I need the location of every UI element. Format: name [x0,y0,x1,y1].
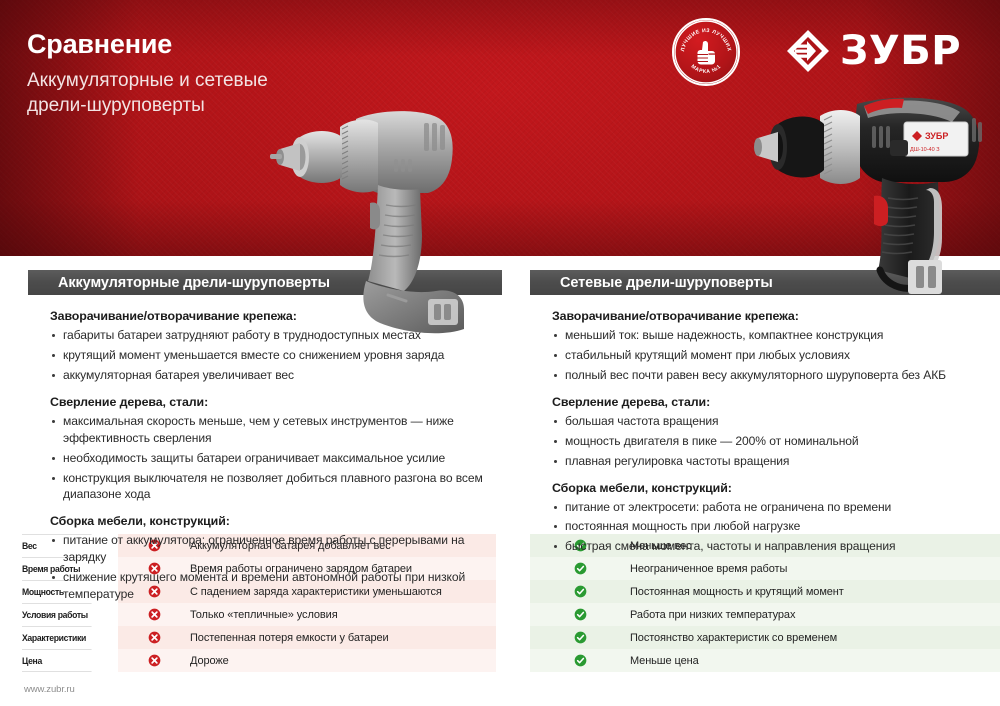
table-row: Работа при низких температурах [530,603,1000,626]
cross-circle-icon [148,631,161,644]
list-item: питание от аккумулятора: ограниченное вр… [52,532,502,566]
check-circle-icon [530,562,630,575]
check-circle-icon [574,585,587,598]
section-list: габариты батареи затрудняют работу в тру… [52,327,502,384]
column-corded-body: Заворачивание/отворачивание крепежа:мень… [530,295,1000,555]
list-item: меньший ток: выше надежность, компактнее… [554,327,1000,344]
check-circle-icon [574,654,587,667]
brand-logo: ЗУБР [785,28,961,74]
check-circle-icon [574,608,587,621]
table-row: Неограниченное время работы [530,557,1000,580]
list-item: быстрая смена момента, частоты и направл… [554,538,1000,555]
check-circle-icon [530,654,630,667]
table-row: Меньше цена [530,649,1000,672]
table-row: Постоянная мощность и крутящий момент [530,580,1000,603]
best-of-best-stamp: ЛУЧШИЕ ИЗ ЛУЧШИХ МАРКА №1 [672,18,740,86]
list-item: мощность двигателя в пике — 200% от номи… [554,433,1000,450]
check-circle-icon [574,631,587,644]
table-cell-text: Только «тепличные» условия [190,609,338,621]
list-item: большая частота вращения [554,413,1000,430]
table-row: Постоянство характеристик со временем [530,626,1000,649]
list-item: снижение крутящего момента и времени авт… [52,569,502,603]
brand-name: ЗУБР [840,31,961,71]
section-title: Сверление дерева, стали: [552,395,1000,409]
list-item: максимальная скорость меньше, чем у сете… [52,413,502,447]
zubr-arrow-icon [785,28,831,74]
corded-drill-image: ЗУБР ДШ-10-40 З [752,92,1000,297]
list-item: габариты батареи затрудняют работу в тру… [52,327,502,344]
list-item: полный вес почти равен весу аккумуляторн… [554,367,1000,384]
svg-text:ДШ-10-40 З: ДШ-10-40 З [910,147,940,153]
section-title: Заворачивание/отворачивание крепежа: [552,309,1000,323]
section-list: максимальная скорость меньше, чем у сете… [52,413,502,504]
section-list: питание от электросети: работа не ограни… [554,499,1000,556]
section-title: Сборка мебели, конструкций: [50,514,502,528]
comparison-page: Сравнение Аккумуляторные и сетевыедрели-… [0,0,1000,706]
list-item: крутящий момент уменьшается вместе со сн… [52,347,502,364]
table-cell-text: Меньше цена [630,655,699,667]
svg-text:МАРКА №1: МАРКА №1 [690,64,723,75]
section-title: Заворачивание/отворачивание крепежа: [50,309,502,323]
list-item: конструкция выключателя не позволяет доб… [52,470,502,504]
list-item: питание от электросети: работа не ограни… [554,499,1000,516]
table-cell-text: Работа при низких температурах [630,609,795,621]
table-cell-text: Неограниченное время работы [630,563,787,575]
column-cordless-body: Заворачивание/отворачивание крепежа:габа… [28,295,502,603]
check-circle-icon [574,562,587,575]
footer-url[interactable]: www.zubr.ru [24,684,75,695]
comparison-row-label: Цена [22,649,92,672]
check-circle-icon [530,585,630,598]
section-list: питание от аккумулятора: ограниченное вр… [52,532,502,603]
check-circle-icon [530,608,630,621]
list-item: аккумуляторная батарея увеличивает вес [52,367,502,384]
table-row: Постепенная потеря емкости у батареи [118,626,496,649]
svg-text:ЗУБР: ЗУБР [925,131,948,141]
cross-circle-icon [148,608,161,621]
list-item: необходимость защиты батареи ограничивае… [52,450,502,467]
table-cell-text: Постоянство характеристик со временем [630,632,837,644]
table-cell-text: Постоянная мощность и крутящий момент [630,586,844,598]
section-list: большая частота вращениямощность двигате… [554,413,1000,470]
section-list: меньший ток: выше надежность, компактнее… [554,327,1000,384]
cross-circle-icon [118,608,190,621]
table-row: Дороже [118,649,496,672]
page-title: Сравнение [27,30,172,60]
comparison-row-label: Условия работы [22,603,92,626]
list-item: плавная регулировка частоты вращения [554,453,1000,470]
check-circle-icon [530,631,630,644]
column-corded: Сетевые дрели-шуруповерты Заворачивание/… [530,270,1000,558]
section-title: Сборка мебели, конструкций: [552,481,1000,495]
table-cell-text: Постепенная потеря емкости у батареи [190,632,389,644]
section-title: Сверление дерева, стали: [50,395,502,409]
list-item: стабильный крутящий момент при любых усл… [554,347,1000,364]
table-cell-text: Дороже [190,655,229,667]
cross-circle-icon [118,654,190,667]
comparison-row-label: Характеристики [22,626,92,649]
column-cordless: Аккумуляторные дрели-шуруповерты Заворач… [28,270,502,606]
cross-circle-icon [118,631,190,644]
table-row: Только «тепличные» условия [118,603,496,626]
cross-circle-icon [148,654,161,667]
list-item: постоянная мощность при любой нагрузке [554,518,1000,535]
